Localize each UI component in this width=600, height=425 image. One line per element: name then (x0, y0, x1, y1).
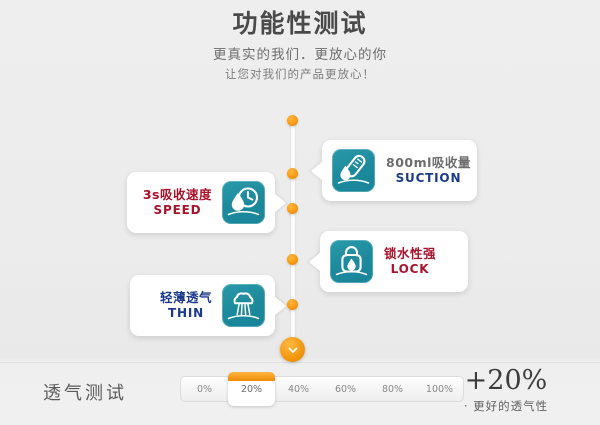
card-tail (311, 161, 323, 181)
feature-card-speed-label-en: SPEED (143, 203, 212, 217)
subtitle-secondary: 让您对我们的产品更放心！ (0, 66, 600, 82)
timeline-dot (287, 203, 298, 214)
feature-card-thin-text: 轻薄透气 THIN (160, 291, 222, 321)
clock-droplet-icon (222, 181, 265, 224)
feature-card-thin-label-cn: 轻薄透气 (160, 291, 212, 306)
segmented-control-track: 0% 20% 40% 60% 80% 100% (180, 376, 464, 402)
segment-0[interactable]: 0% (181, 377, 228, 401)
breathability-test-label: 透气测试 (43, 379, 127, 405)
segment-20-label: 20% (241, 384, 262, 395)
card-tail (309, 252, 321, 272)
feature-card-lock-label-en: LOCK (384, 262, 436, 276)
timeline-dot (287, 168, 298, 179)
segment-20[interactable]: 20% (228, 373, 275, 406)
timeline-line (291, 118, 295, 346)
segment-60[interactable]: 60% (322, 377, 369, 401)
feature-card-speed-text: 3s吸收速度 SPEED (143, 188, 222, 218)
feature-card-suction[interactable]: 800ml吸收量 SUCTION (322, 140, 477, 201)
timeline (290, 112, 296, 356)
feature-card-suction-label-cn: 800ml吸收量 (386, 156, 471, 171)
timeline-dot (287, 254, 298, 265)
timeline-dot (287, 115, 298, 126)
feature-card-thin-label-en: THIN (160, 306, 212, 320)
feature-card-suction-label-en: SUCTION (386, 171, 471, 185)
breathable-burst-icon (222, 284, 265, 327)
breathability-segmented-control[interactable]: 0% 20% 40% 60% 80% 100% (180, 376, 464, 402)
card-tail (274, 296, 286, 316)
result-note: · 更好的透气性 (446, 398, 566, 414)
test-tube-droplet-icon (332, 149, 375, 192)
feature-card-lock-text: 锁水性强 LOCK (373, 247, 436, 277)
padlock-droplet-icon (330, 240, 373, 283)
feature-card-thin[interactable]: 轻薄透气 THIN (130, 275, 275, 336)
page-title: 功能性测试 (0, 8, 600, 39)
card-tail (274, 193, 286, 213)
segment-80[interactable]: 80% (369, 377, 416, 401)
chevron-down-icon (286, 343, 300, 357)
feature-card-lock-label-cn: 锁水性强 (384, 247, 436, 262)
subtitle-primary: 更真实的我们．更放心的你 (0, 43, 600, 63)
feature-card-lock[interactable]: 锁水性强 LOCK (320, 231, 468, 292)
feature-card-speed[interactable]: 3s吸收速度 SPEED (127, 172, 275, 233)
result-value: +20% (446, 367, 566, 394)
timeline-dot (287, 299, 298, 310)
result-block: +20% · 更好的透气性 (446, 367, 566, 414)
poster-canvas: 功能性测试 更真实的我们．更放心的你 让您对我们的产品更放心！ 3s吸收速度 S… (0, 0, 600, 425)
segment-active-cap (228, 372, 275, 381)
bottom-bar: 透气测试 0% 20% 40% 60% 80% 100% +20% · 更好的透… (0, 363, 600, 425)
segment-40[interactable]: 40% (275, 377, 322, 401)
timeline-end-button[interactable] (280, 337, 305, 362)
feature-card-suction-text: 800ml吸收量 SUCTION (375, 156, 471, 186)
header: 功能性测试 更真实的我们．更放心的你 让您对我们的产品更放心！ (0, 8, 600, 82)
feature-card-speed-label-cn: 3s吸收速度 (143, 188, 212, 203)
